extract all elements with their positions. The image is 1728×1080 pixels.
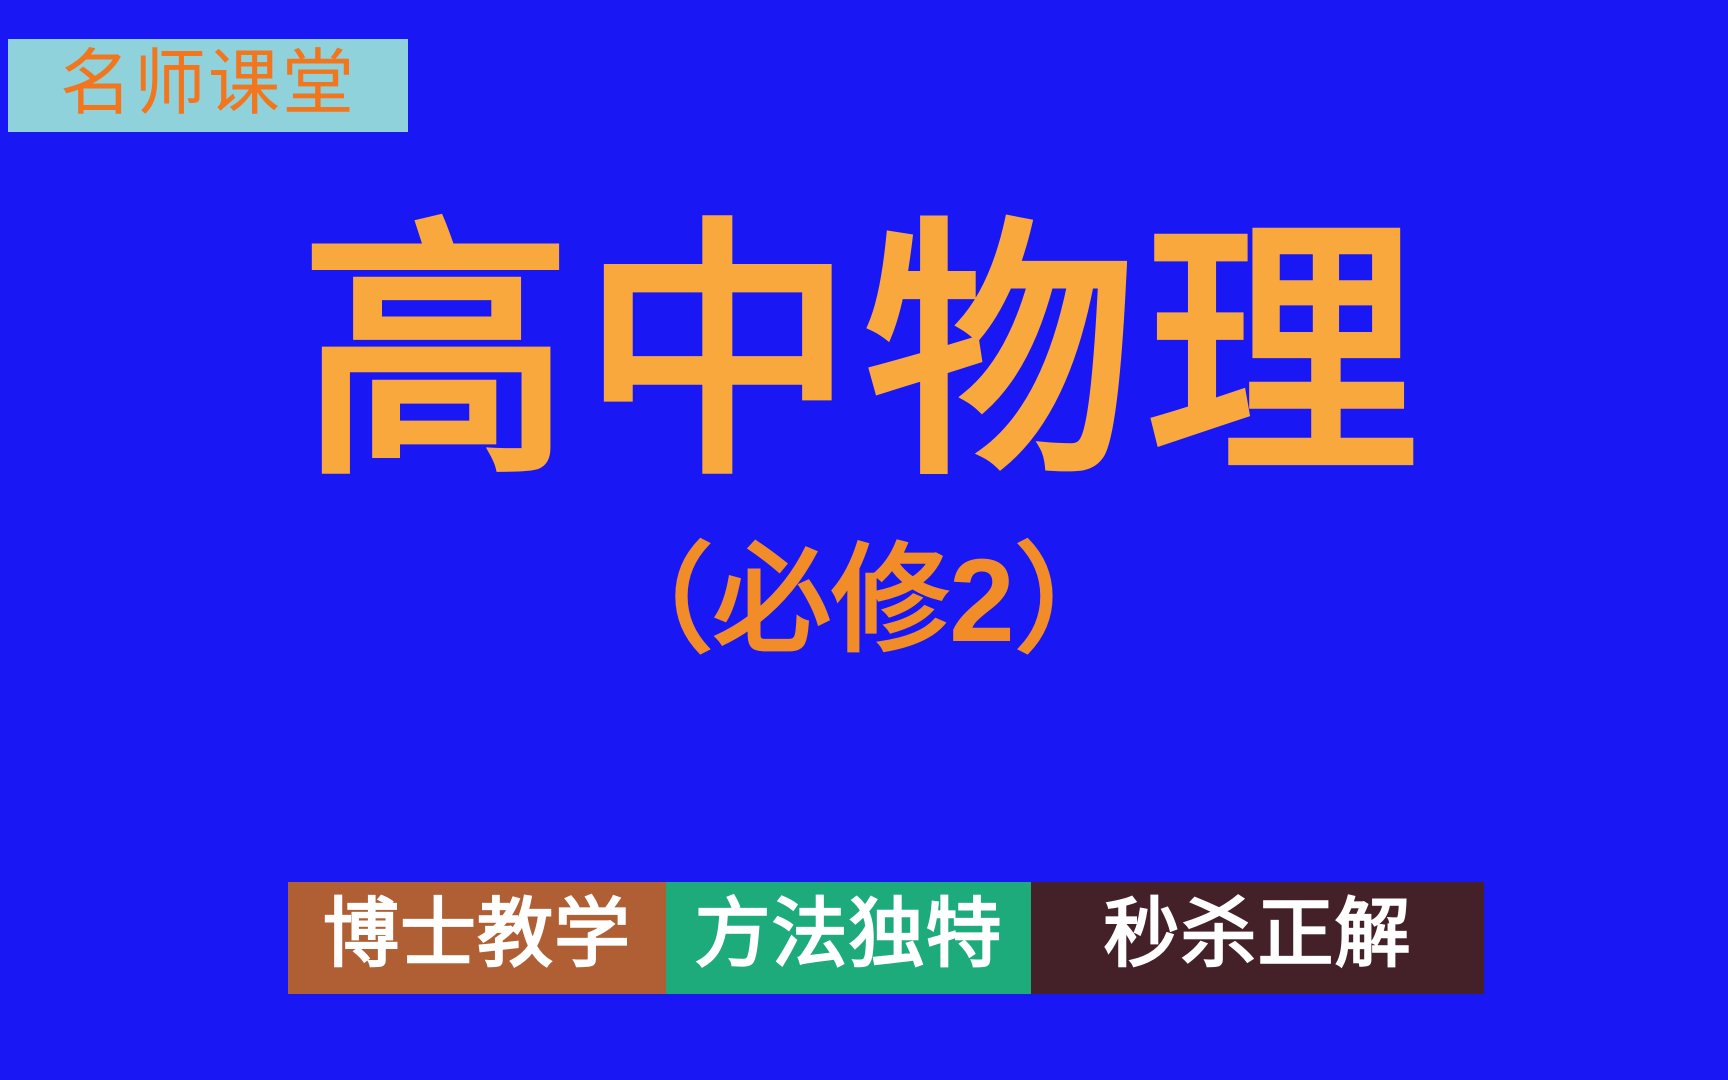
course-badge: 名师课堂 <box>8 39 408 132</box>
feature-segment-3: 秒杀正解 <box>1031 882 1484 994</box>
feature-segment-3-label: 秒杀正解 <box>1104 897 1412 973</box>
feature-segment-1: 博士教学 <box>288 882 666 994</box>
page-subtitle: （必修2） <box>0 542 1728 660</box>
page-subtitle-text: （必修2） <box>595 542 1133 660</box>
page-title-text: 高中物理 <box>300 218 1428 490</box>
course-badge-label: 名师课堂 <box>60 48 356 120</box>
feature-segment-2: 方法独特 <box>666 882 1031 994</box>
feature-banner: 博士教学 方法独特 秒杀正解 <box>288 882 1484 994</box>
page-title: 高中物理 <box>0 218 1728 490</box>
feature-segment-2-label: 方法独特 <box>695 897 1003 973</box>
feature-segment-1-label: 博士教学 <box>323 897 631 973</box>
